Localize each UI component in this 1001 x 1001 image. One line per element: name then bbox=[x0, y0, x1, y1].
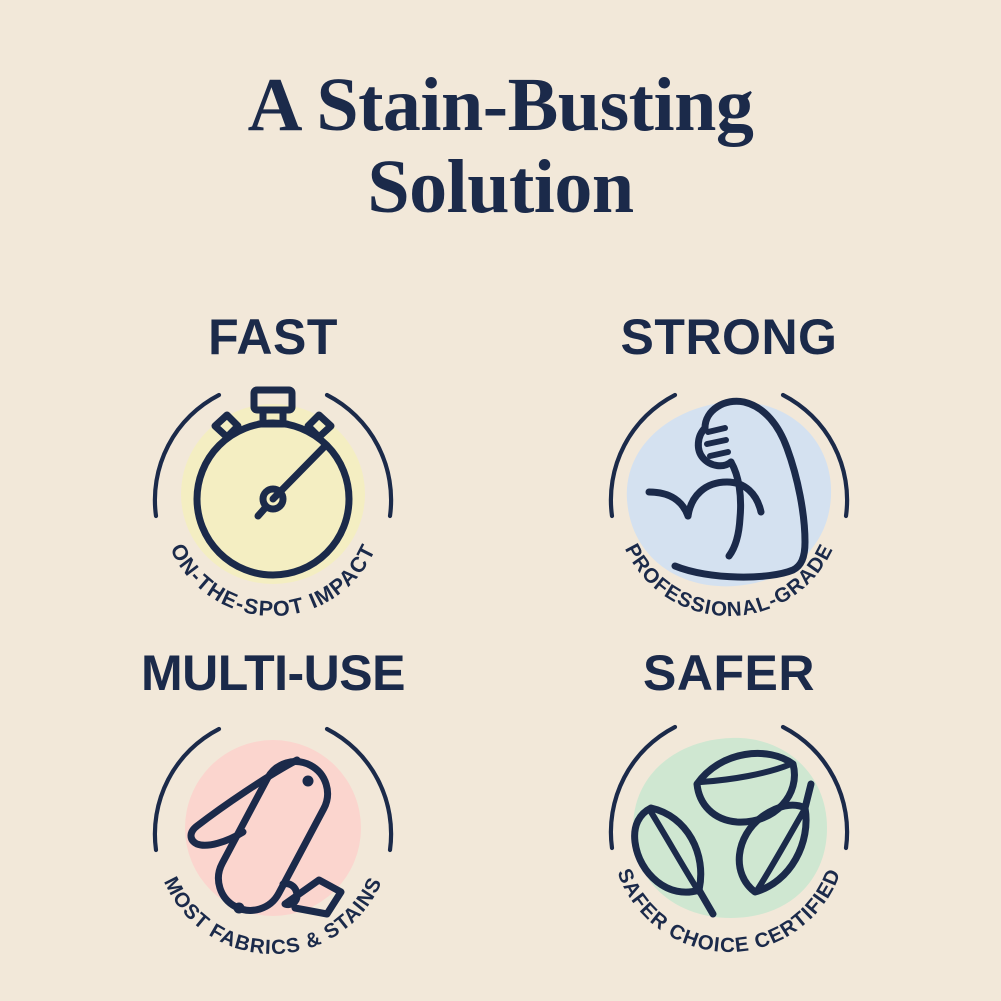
badge-safer-heading: SAFER bbox=[643, 648, 815, 698]
badge-strong: STRONG bbox=[508, 312, 950, 638]
badge-fast-color-blob bbox=[181, 404, 365, 584]
badge-multi-use-heading: MULTI-USE bbox=[141, 648, 405, 698]
badge-fast: FAST bbox=[52, 312, 494, 638]
benefit-badge-grid: FAST bbox=[52, 312, 950, 972]
page-title-line-1: A Stain-Busting bbox=[0, 68, 1001, 142]
badge-fast-emblem: ON-THE-SPOT IMPACT bbox=[123, 366, 423, 638]
badge-fast-heading: FAST bbox=[208, 312, 338, 362]
badge-multi-use-emblem: MOST FABRICS & STAINS bbox=[123, 702, 423, 974]
badge-multi-use: MULTI-USE bbox=[52, 648, 494, 974]
badge-strong-emblem: PROFESSIONAL-GRADE bbox=[579, 366, 879, 638]
badge-strong-heading: STRONG bbox=[621, 312, 838, 362]
page-title: A Stain-Busting Solution bbox=[0, 68, 1001, 225]
badge-safer-emblem: SAFER CHOICE CERTIFIED bbox=[579, 702, 879, 974]
badge-safer: SAFER bbox=[508, 648, 950, 974]
page-title-line-2: Solution bbox=[0, 150, 1001, 224]
stain-busting-infographic: A Stain-Busting Solution FAST bbox=[0, 0, 1001, 1001]
